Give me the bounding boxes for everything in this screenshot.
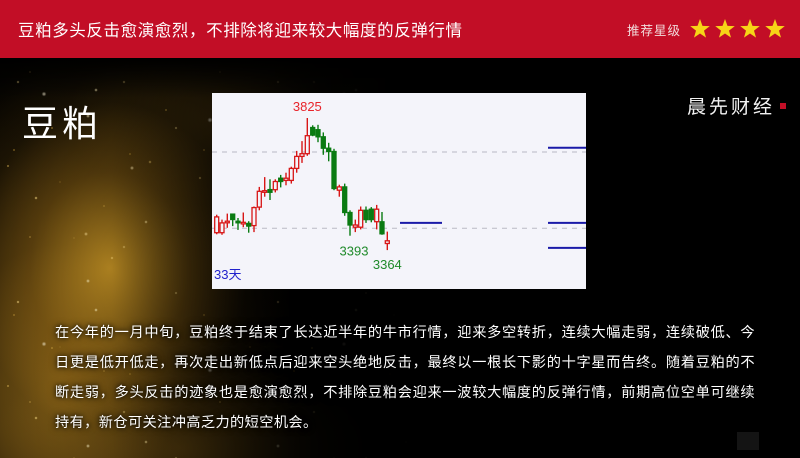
candle	[375, 205, 379, 230]
header-bar: 豆粕多头反击愈演愈烈，不排除将迎来较大幅度的反弹行情 推荐星级	[0, 0, 800, 58]
candle	[284, 173, 288, 186]
candle	[305, 118, 309, 156]
candle-body	[316, 130, 320, 137]
candle-body	[252, 208, 256, 226]
candle-body	[364, 210, 368, 219]
candle-body	[375, 209, 379, 222]
star-rating	[689, 18, 786, 40]
candle	[263, 177, 267, 197]
candle-body	[353, 225, 357, 227]
chart-last-label: 3364	[373, 257, 402, 272]
candle	[353, 220, 357, 233]
candle-body	[231, 214, 235, 219]
candle-body	[257, 191, 261, 207]
candle-body	[327, 148, 331, 151]
candle-body	[273, 182, 277, 190]
candle-body	[295, 156, 299, 168]
candle-body	[343, 187, 347, 213]
candle	[231, 214, 235, 226]
candle	[295, 151, 299, 173]
candle-body	[225, 221, 229, 223]
candle	[380, 212, 384, 235]
star-icon	[714, 18, 736, 40]
candle-body	[369, 209, 373, 219]
candle-body	[305, 136, 309, 154]
brand-name: 晨先财经	[687, 92, 775, 119]
rating-label: 推荐星级	[627, 20, 681, 39]
candle-body	[348, 213, 352, 226]
candle-body	[279, 178, 283, 181]
candle-body	[220, 223, 224, 233]
candle	[247, 221, 251, 233]
candle-body	[359, 210, 363, 227]
candle-body	[289, 168, 293, 180]
candle-body	[236, 221, 240, 223]
candle	[316, 125, 320, 142]
candle	[348, 210, 352, 235]
candle	[273, 179, 277, 192]
candle-body	[215, 217, 219, 233]
candle	[321, 132, 325, 154]
candle	[215, 215, 219, 235]
candle	[279, 175, 283, 188]
star-icon	[764, 18, 786, 40]
candle	[268, 179, 272, 200]
candle-body	[247, 223, 251, 226]
candle	[225, 214, 229, 228]
glitter-top-fade	[0, 58, 800, 98]
candle	[220, 220, 224, 235]
candlestick-chart: 38253393336433天	[212, 93, 586, 289]
candle-body	[263, 191, 267, 193]
recommendation-rating: 推荐星级	[627, 18, 786, 40]
candle-body	[268, 190, 272, 193]
candle-body	[385, 241, 389, 244]
candle-body	[332, 152, 336, 189]
chart-high-label: 3825	[293, 99, 322, 114]
candle	[364, 207, 368, 223]
corner-marker	[737, 432, 759, 450]
poster-root: 豆粕多头反击愈演愈烈，不排除将迎来较大幅度的反弹行情 推荐星级 晨先财经 豆粕 …	[0, 0, 800, 458]
candle-body	[311, 128, 315, 136]
brand-dot-icon	[780, 103, 786, 109]
candle	[332, 149, 336, 190]
page-title: 豆粕多头反击愈演愈烈，不排除将迎来较大幅度的反弹行情	[18, 17, 463, 41]
candle-body	[300, 154, 304, 157]
candle-body	[321, 137, 325, 148]
chart-period-label: 33天	[214, 267, 241, 282]
candle	[369, 207, 373, 222]
candle	[289, 167, 293, 184]
candle	[311, 125, 315, 136]
candle	[337, 185, 341, 197]
chart-pivot-low-label: 3393	[340, 244, 369, 259]
candle	[257, 187, 261, 210]
candle-body	[284, 178, 288, 180]
candle-body	[241, 222, 245, 224]
star-icon	[739, 18, 761, 40]
candle	[241, 213, 245, 228]
analysis-paragraph: 在今年的一月中旬，豆粕终于结束了长达近半年的牛市行情，迎来多空转折，连续大幅走弱…	[55, 318, 755, 438]
brand-logo: 晨先财经	[687, 92, 786, 119]
candle	[385, 232, 389, 251]
star-icon	[689, 18, 711, 40]
candle	[359, 207, 363, 230]
candlestick-chart-panel[interactable]: 38253393336433天	[212, 93, 586, 289]
candle-body	[337, 187, 341, 190]
candle	[343, 184, 347, 216]
commodity-title: 豆粕	[22, 95, 102, 147]
candle-body	[380, 222, 384, 234]
candle	[327, 143, 331, 162]
